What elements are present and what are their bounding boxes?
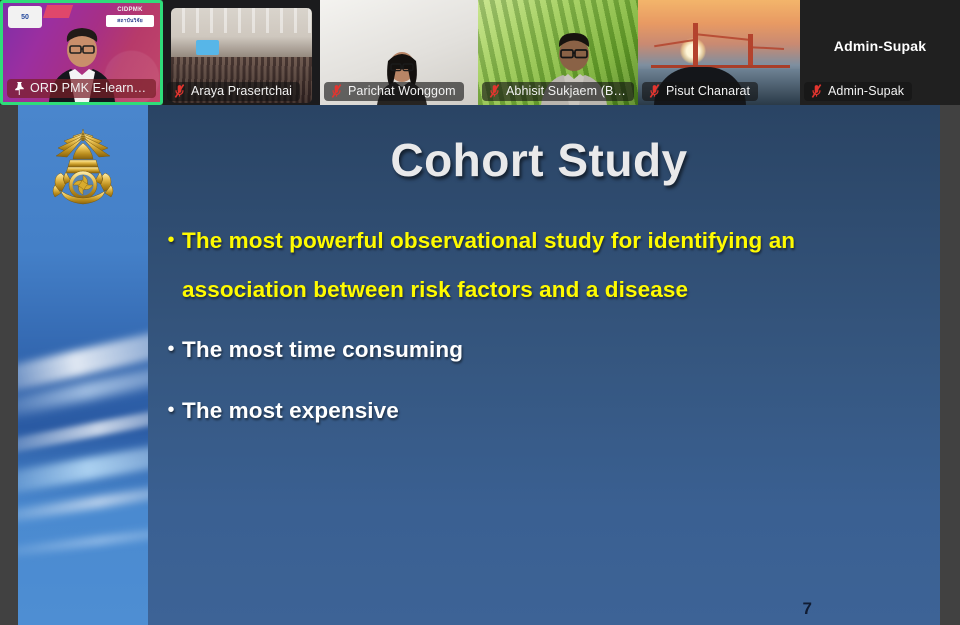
thai-royal-emblem-icon <box>44 127 122 223</box>
name-bar: Abhisit Sukjaem (Ball) <box>482 82 634 101</box>
slide-bullet-list: • The most powerful observational study … <box>160 230 900 422</box>
bullet-text-line1: The most expensive <box>182 400 399 423</box>
participant-name: Admin-Supak <box>828 84 904 98</box>
name-bar: Pisut Chanarat <box>642 82 758 101</box>
participant-tile-pisut-chanarat[interactable]: Pisut Chanarat <box>638 0 800 105</box>
shared-screen-stage: Cohort Study • The most powerful observa… <box>0 105 960 625</box>
pin-icon <box>13 81 25 95</box>
name-bar: ORD PMK E-learning <box>7 79 156 98</box>
participant-name: Pisut Chanarat <box>666 84 750 98</box>
bullet-marker: • <box>160 400 182 421</box>
participant-tile-araya-prasertchai[interactable]: Araya Prasertchai <box>163 0 320 105</box>
participant-display-name: Admin-Supak <box>800 38 960 54</box>
participant-name: Abhisit Sukjaem (Ball) <box>506 84 626 98</box>
participant-tile-ord-pmk-e-learning[interactable]: 50 CIDPMK สถาบันวิจัย ORD PMK E-learning <box>0 0 163 105</box>
name-bar: Parichat Wonggom <box>324 82 464 101</box>
slide-page-number: 7 <box>803 599 812 619</box>
participant-name: Parichat Wonggom <box>348 84 456 98</box>
bullet-item: • The most powerful observational study … <box>160 230 900 253</box>
bullet-item-continuation: association between risk factors and a d… <box>160 279 900 302</box>
bullet-text-line1: The most powerful observational study fo… <box>182 230 795 253</box>
mic-muted-icon <box>173 84 186 98</box>
mic-muted-icon <box>488 84 501 98</box>
slide-decorative-band <box>18 105 148 625</box>
brand-badge-title: CIDPMK <box>106 7 154 13</box>
bullet-marker: • <box>160 230 182 251</box>
participant-filmstrip: 50 CIDPMK สถาบันวิจัย ORD PMK E-learning <box>0 0 960 105</box>
presentation-slide: Cohort Study • The most powerful observa… <box>18 105 940 625</box>
mic-muted-icon <box>648 84 661 98</box>
slide-title: Cohort Study <box>168 133 940 187</box>
name-bar: Araya Prasertchai <box>167 82 300 101</box>
brand-badge-sub: สถาบันวิจัย <box>106 15 154 27</box>
bullet-item: • The most time consuming <box>160 339 900 362</box>
mic-muted-icon <box>330 84 343 98</box>
participant-tile-parichat-wonggom[interactable]: Parichat Wonggom <box>320 0 478 105</box>
bullet-item: • The most expensive <box>160 400 900 423</box>
mic-muted-icon <box>810 84 823 98</box>
participant-tile-abhisit-sukjaem[interactable]: Abhisit Sukjaem (Ball) <box>478 0 638 105</box>
bullet-text-line2: association between risk factors and a d… <box>182 279 688 302</box>
name-bar: Admin-Supak <box>804 82 912 101</box>
bullet-text-line1: The most time consuming <box>182 339 463 362</box>
bullet-marker: • <box>160 339 182 360</box>
brand-logo-icon: 50 <box>8 6 42 28</box>
participant-name: ORD PMK E-learning <box>30 81 148 95</box>
participant-name: Araya Prasertchai <box>191 84 292 98</box>
brand-badge: CIDPMK สถาบันวิจัย <box>106 7 154 27</box>
participant-tile-admin-supak[interactable]: Admin-Supak Admin-Supak <box>800 0 960 105</box>
zoom-meeting-window: 50 CIDPMK สถาบันวิจัย ORD PMK E-learning <box>0 0 960 625</box>
